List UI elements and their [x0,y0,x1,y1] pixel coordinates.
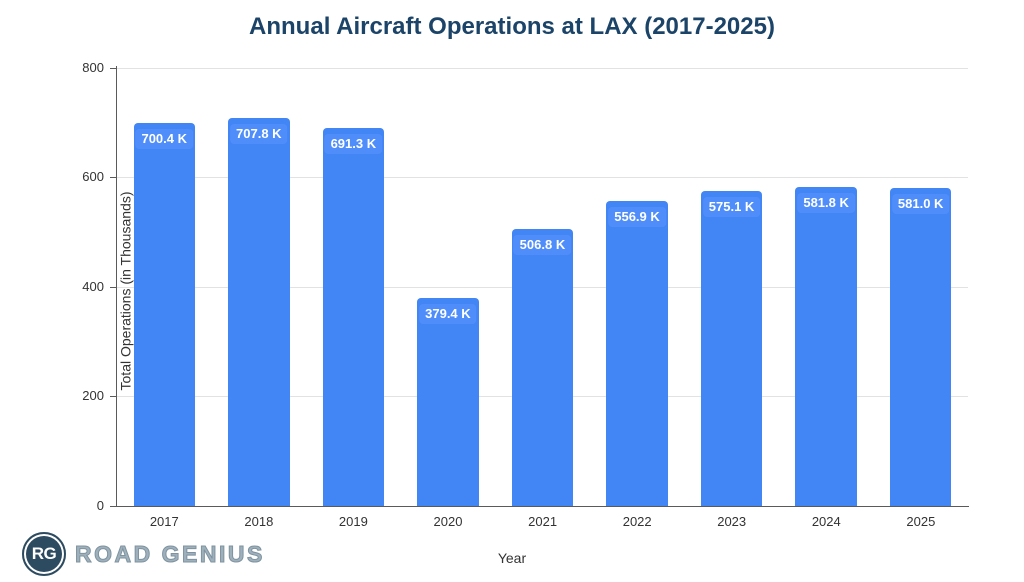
rg-monogram-icon: RG [22,532,66,576]
brand-logo: RG ROAD GENIUS [22,532,265,576]
bar-slot-2024: 581.8 K [779,68,874,506]
bar-label-2022: 556.9 K [608,207,666,227]
brand-name: ROAD GENIUS [75,541,265,568]
bar-label-2021: 506.8 K [514,235,572,255]
x-tick-label-2023: 2023 [684,514,779,529]
bar-label-2017: 700.4 K [135,129,193,149]
bar-label-2019: 691.3 K [325,134,383,154]
x-tick-label-2022: 2022 [590,514,685,529]
bar-slot-2023: 575.1 K [684,68,779,506]
bar-slot-2017: 700.4 K [117,68,212,506]
bar-2023[interactable]: 575.1 K [701,191,762,506]
bar-2021[interactable]: 506.8 K [512,229,573,506]
bar-slot-2022: 556.9 K [590,68,685,506]
x-tick-label-2021: 2021 [495,514,590,529]
bar-label-2018: 707.8 K [230,124,288,144]
bar-slot-2019: 691.3 K [306,68,401,506]
bar-2025[interactable]: 581.0 K [890,188,951,506]
bar-2020[interactable]: 379.4 K [417,298,478,506]
bar-2017[interactable]: 700.4 K [134,123,195,506]
x-axis-line [116,506,969,507]
x-tick-label-2017: 2017 [117,514,212,529]
bar-label-2020: 379.4 K [419,304,477,324]
y-tick-label-600: 600 [62,169,104,184]
y-tick-mark-800 [110,68,116,69]
chart-canvas: 800 600 400 200 0 Total Operations (in T… [0,0,1024,582]
bar-slot-2021: 506.8 K [495,68,590,506]
x-tick-label-2025: 2025 [874,514,969,529]
bar-2019[interactable]: 691.3 K [323,128,384,506]
y-tick-label-400: 400 [62,279,104,294]
rg-monogram-text: RG [32,544,57,564]
x-tick-label-2019: 2019 [306,514,401,529]
y-tick-mark-200 [110,396,116,397]
bar-slot-2020: 379.4 K [401,68,496,506]
bar-2018[interactable]: 707.8 K [228,118,289,506]
y-tick-mark-600 [110,177,116,178]
bar-slot-2018: 707.8 K [212,68,307,506]
bars-layer: 700.4 K 707.8 K 691.3 K 379.4 K 506.8 K [117,68,968,506]
bar-2024[interactable]: 581.8 K [795,187,856,506]
bar-2022[interactable]: 556.9 K [606,201,667,506]
bar-label-2024: 581.8 K [797,193,855,213]
y-tick-label-0: 0 [62,498,104,513]
bar-label-2025: 581.0 K [892,194,950,214]
x-tick-label-2018: 2018 [212,514,307,529]
bar-label-2023: 575.1 K [703,197,761,217]
x-tick-label-2020: 2020 [401,514,496,529]
y-tick-label-200: 200 [62,388,104,403]
bar-slot-2025: 581.0 K [873,68,968,506]
y-tick-label-800: 800 [62,60,104,75]
y-tick-mark-0 [110,506,116,507]
y-tick-mark-400 [110,287,116,288]
x-tick-label-2024: 2024 [779,514,874,529]
